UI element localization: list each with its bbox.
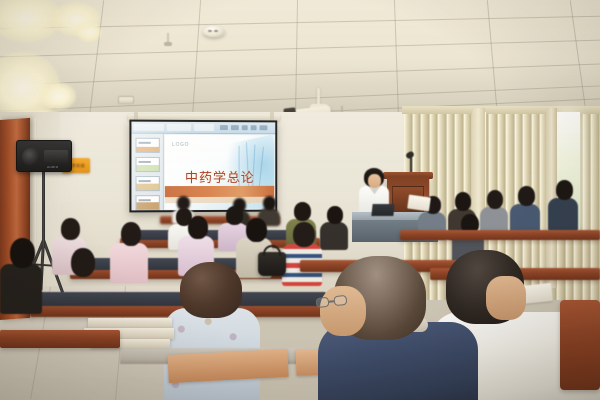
bench-row [400, 230, 600, 240]
slide-logo-text: LOGO [172, 142, 189, 148]
laptop [371, 204, 394, 216]
bench-row [0, 330, 120, 348]
slide-title-text: 中药学总论 [165, 167, 274, 186]
book-stack [88, 318, 172, 328]
powerpoint-ribbon[interactable] [131, 122, 275, 135]
screen-surface: LOGO 中药学总论 [131, 122, 275, 211]
handout-papers [407, 195, 431, 212]
audience-member-striped [282, 222, 322, 284]
audience-member [548, 180, 578, 230]
smoke-detector-icon [203, 26, 225, 37]
handbag [258, 252, 286, 276]
speaker-woofer-icon [22, 148, 40, 166]
book-stack [167, 349, 288, 383]
sunlight-patch [40, 82, 76, 110]
projection-screen: LOGO 中药学总论 [129, 120, 277, 213]
sprinkler-head-icon [163, 33, 173, 47]
slide-thumbnail[interactable] [136, 176, 160, 191]
audience-member [0, 238, 42, 310]
audience-member [110, 222, 148, 280]
sunlight-patch [76, 22, 102, 42]
audience-member-navy-polo [318, 256, 478, 400]
slide-thumbnail[interactable] [136, 138, 160, 153]
lecture-hall-photo: 严禁吸烟 AUDIO [0, 0, 600, 400]
speaker-brand-text: AUDIO [47, 165, 59, 169]
pa-loudspeaker: AUDIO [16, 140, 72, 172]
slide-thumbnail[interactable] [136, 195, 160, 210]
powerpoint-slide-thumbnails[interactable] [131, 134, 163, 211]
audience-member [510, 186, 540, 234]
bench-row [560, 300, 600, 390]
slide-thumbnail[interactable] [136, 157, 160, 172]
ceiling-vent-icon [118, 96, 134, 104]
audience-member [320, 206, 348, 248]
audience-member [60, 248, 104, 324]
speaker-horn-icon [44, 150, 68, 163]
